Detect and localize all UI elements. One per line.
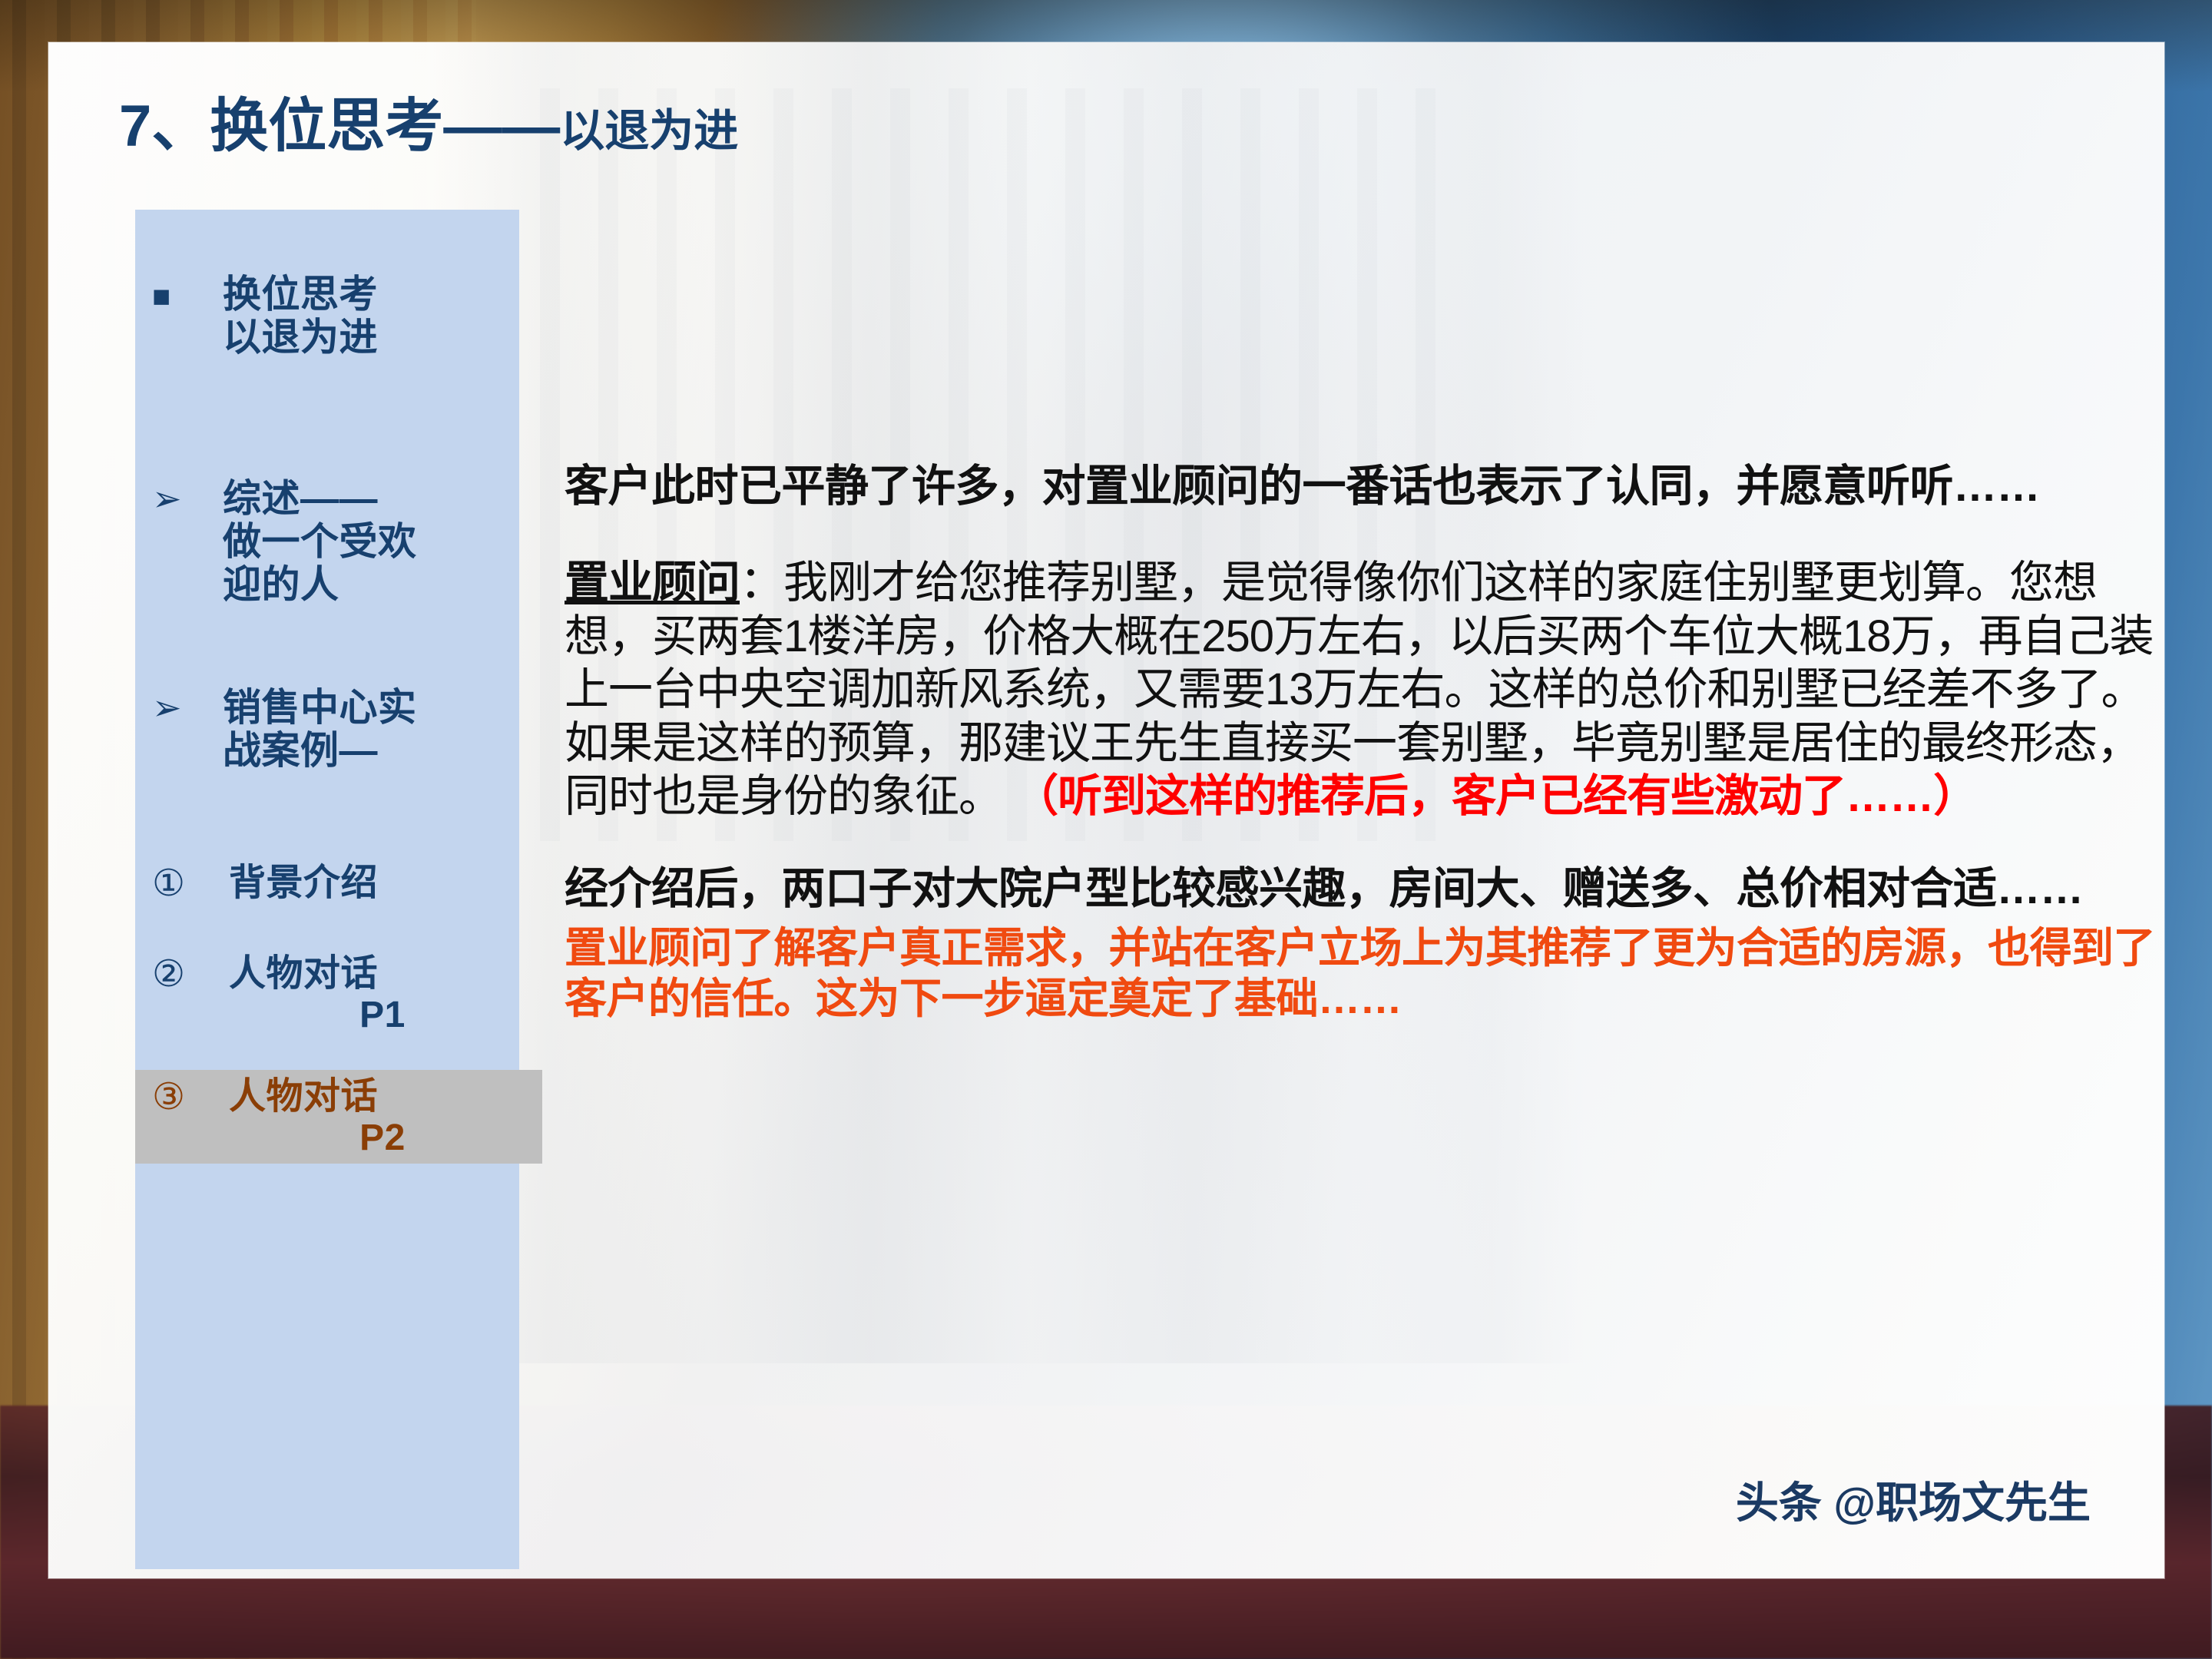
sidebar-item-label: 综述—— 做一个受欢 迎的人 [223,477,536,606]
circled-one-icon: ① [152,863,229,904]
dialogue-colon: ： [740,558,783,608]
dialogue-note: （听到这样的推荐后，客户已经有些激动了……） [1014,771,1977,821]
sidebar-item-label-line3: 迎的人 [223,563,536,606]
sidebar-item-销售中心实战案例[interactable]: ➢ 销售中心实 战案例— [135,686,542,772]
main-content: 客户此时已平静了许多，对置业顾问的一番话也表示了认同，并愿意听听…… 置业顾问：… [565,461,2162,1024]
sidebar-item-label: 人物对话 P2 [229,1076,536,1159]
sidebar-outline-panel: ■ 换位思考 以退为进 ➢ 综述—— 做一个受欢 迎的人 ➢ 销售中心实 战案例… [135,210,519,1569]
sidebar-item-label-line2: 战案例— [223,729,536,772]
sidebar-item-综述[interactable]: ➢ 综述—— 做一个受欢 迎的人 [135,477,542,606]
circled-two-icon: ② [152,953,229,995]
sidebar-item-换位思考[interactable]: ■ 换位思考 以退为进 [135,273,542,359]
slide-panel: 7、换位思考——以退为进 ■ 换位思考 以退为进 ➢ 综述—— 做一个受欢 迎的… [48,42,2164,1578]
circled-three-icon: ③ [152,1076,229,1118]
sidebar-item-label: 销售中心实 战案例— [223,686,536,772]
arrow-bullet-icon: ➢ [152,477,223,518]
lead-paragraph: 客户此时已平静了许多，对置业顾问的一番话也表示了认同，并愿意听听…… [565,461,2162,512]
sidebar-item-label-line1: 换位思考 [223,273,536,316]
sidebar-item-label-line1: 背景介绍 [229,863,536,904]
watermark-label: 头条 @职场文先生 [1736,1469,2091,1531]
sidebar-item-label-line1: 综述—— [223,477,536,520]
sidebar-item-人物对话-p1[interactable]: ② 人物对话 P1 [135,953,542,1036]
arrow-bullet-icon: ➢ [152,686,223,727]
sidebar-item-label: 背景介绍 [229,863,536,904]
page-title-main: 7、换位思考—— [119,94,560,159]
square-bullet-icon: ■ [152,273,223,313]
summary-paragraph: 经介绍后，两口子对大院户型比较感兴趣，房间大、赠送多、总价相对合适…… [565,863,2162,915]
sidebar-item-背景介绍[interactable]: ① 背景介绍 [135,863,542,904]
sidebar-item-label-line2: P2 [229,1118,536,1159]
sidebar-item-label-line1: 销售中心实 [223,686,536,729]
dialogue-speaker: 置业顾问 [565,558,740,608]
sidebar-item-人物对话-p2-active[interactable]: ③ 人物对话 P2 [135,1070,542,1164]
sidebar-item-label-line1: 人物对话 [229,953,536,995]
sidebar-item-label: 换位思考 以退为进 [223,273,536,359]
sidebar-item-label-line2: P1 [229,995,536,1036]
sidebar-item-label: 人物对话 P1 [229,953,536,1036]
sidebar-item-label-line2: 做一个受欢 [223,520,536,563]
conclusion-paragraph: 置业顾问了解客户真正需求，并站在客户立场上为其推荐了更为合适的房源，也得到了客户… [565,922,2162,1024]
sidebar-item-label-line2: 以退为进 [223,316,536,359]
page-title: 7、换位思考——以退为进 [119,98,738,156]
page-title-sub: 以退为进 [560,106,738,156]
sidebar-item-label-line1: 人物对话 [229,1076,536,1118]
dialogue-paragraph: 置业顾问：我刚才给您推荐别墅，是觉得像你们这样的家庭住别墅更划算。您想想，买两套… [565,556,2162,823]
